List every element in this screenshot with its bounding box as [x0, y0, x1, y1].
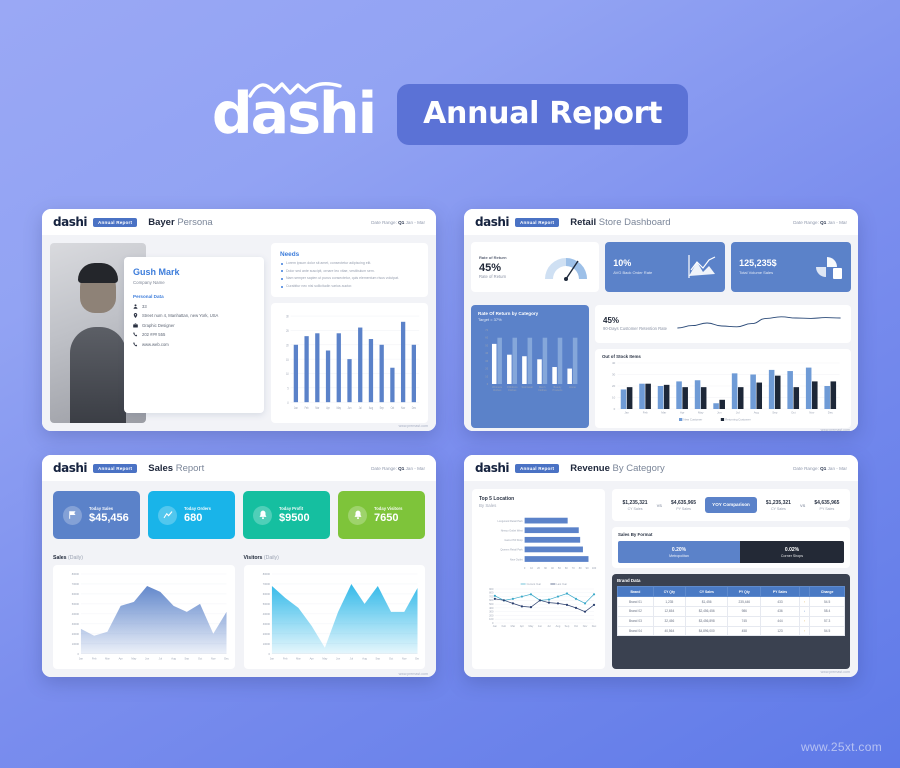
visitors-daily-caption: Visitors (Daily)	[244, 555, 426, 561]
persona-row-phone: 202 ### 555	[133, 332, 255, 337]
slide4-watermark: www.premast.com	[821, 670, 850, 674]
svg-text:30000: 30000	[72, 622, 80, 626]
needs-item: Lorem ipsum dolor sit amet, consectetur …	[280, 261, 419, 266]
svg-text:25: 25	[286, 328, 289, 333]
svg-text:Jun: Jun	[336, 657, 341, 661]
svg-text:100: 100	[592, 566, 597, 570]
cell-change: 57.3	[810, 616, 845, 626]
svg-text:Feb: Feb	[92, 657, 97, 661]
yoy-left-cy: $1,235,321CY Sales	[623, 500, 648, 511]
cell-cy-sales: $3,456,898	[685, 616, 728, 626]
th-cy-qty[interactable]: CY Qty	[653, 587, 685, 597]
svg-text:Dec: Dec	[224, 657, 228, 661]
kpi-today-visitors[interactable]: Today Visitors 7650	[338, 491, 425, 539]
svg-text:Apr: Apr	[119, 657, 123, 661]
cell-cy-qty: 12,654	[653, 606, 685, 616]
retention-value: 45%	[603, 316, 667, 325]
svg-text:20000: 20000	[72, 632, 80, 636]
slide2-logo: dashi	[475, 215, 509, 229]
cell-trend: ↑	[799, 597, 809, 607]
phone-icon	[133, 332, 138, 337]
cell-py-qty: 235,446	[728, 597, 761, 607]
svg-text:May: May	[322, 657, 328, 661]
svg-text:0: 0	[487, 382, 489, 386]
svg-text:0: 0	[268, 652, 270, 656]
slide2-watermark: www.premast.com	[821, 428, 850, 431]
persona-monthly-bar-chart[interactable]: 051015202530JanFebMarAprMayJunJulAugSepO…	[271, 303, 428, 423]
slide-bayer-persona[interactable]: dashi Annual Report Bayer Persona Date R…	[42, 209, 436, 431]
svg-text:400: 400	[489, 606, 494, 610]
slide-retail-store-dashboard[interactable]: dashi Annual Report Retail Store Dashboa…	[464, 209, 858, 431]
kpi-rate-label: Rate of Return	[479, 255, 541, 260]
needs-title: Needs	[280, 251, 419, 258]
svg-text:60: 60	[565, 566, 568, 570]
hero-header: dashi Annual Report	[0, 78, 900, 150]
svg-text:60000: 60000	[262, 592, 270, 596]
slide4-wrap: Top 5 Location By Sales Longwood Retail …	[472, 489, 850, 669]
svg-text:20000: 20000	[262, 632, 270, 636]
svg-text:Home: Home	[569, 385, 576, 389]
chart-icon	[158, 506, 177, 525]
visitors-daily-chart-wrap: Visitors (Daily) 01000020000300004000050…	[244, 555, 426, 669]
slide1-logo: dashi	[53, 215, 87, 229]
svg-text:Sep: Sep	[565, 624, 570, 628]
persona-right: Needs Lorem ipsum dolor sit amet, consec…	[271, 243, 428, 423]
yoy-vs-right: VS	[800, 503, 805, 508]
table-row[interactable]: Brand 0212,654$2,456,456986436↓58.4	[618, 606, 845, 616]
needs-item: Nam semper sapien ut purus consectetur, …	[280, 276, 419, 281]
svg-text:0: 0	[524, 566, 526, 570]
rate-of-return-by-category-panel[interactable]: Rate Of Return by Category Target = 37% …	[471, 305, 589, 428]
svg-text:50: 50	[485, 343, 488, 347]
slide4-right-col: $1,235,321CY Sales VS $4,635,965PY Sales…	[612, 489, 850, 669]
cell-py-qty: 986	[728, 606, 761, 616]
kpi-total-volume-sales[interactable]: 125,235$ Total Volume Sales	[731, 242, 851, 292]
svg-text:Sep: Sep	[380, 406, 384, 411]
svg-text:Oct: Oct	[198, 657, 202, 661]
kpi-backorder-sub: AVG Back Order Rate	[613, 270, 652, 275]
sales-by-format-title: Sales By Format	[618, 532, 844, 537]
svg-text:40: 40	[612, 361, 616, 365]
cell-trend: ↑	[799, 616, 809, 626]
svg-text:10000: 10000	[72, 642, 80, 646]
top5-location-panel[interactable]: Top 5 Location By Sales Longwood Retail …	[472, 489, 605, 669]
svg-text:60000: 60000	[72, 592, 80, 596]
slide3-kpi-row: Today Sales $45,456 Today Orders 680 Tod…	[53, 491, 425, 539]
svg-text:May: May	[337, 406, 342, 411]
person-icon	[133, 304, 138, 309]
svg-text:Nov: Nov	[401, 406, 405, 411]
kpi-today-profit[interactable]: Today Profit $9500	[243, 491, 330, 539]
svg-text:30000: 30000	[262, 622, 270, 626]
svg-text:100: 100	[489, 617, 494, 621]
slide-sales-report[interactable]: dashi Annual Report Sales Report Date Ra…	[42, 455, 436, 677]
slide3-watermark: www.premast.com	[399, 672, 428, 676]
svg-text:Mar: Mar	[105, 657, 110, 661]
brand-data-panel[interactable]: Brand Data Brand CY Qty CY Sales PY Qty …	[612, 574, 850, 669]
svg-text:Garret Hill Shop: Garret Hill Shop	[504, 538, 523, 542]
persona-row-age: 33	[133, 304, 255, 309]
cell-cy-qty: 40,564	[653, 626, 685, 636]
svg-text:0: 0	[287, 400, 289, 405]
cell-change: 58.4	[810, 606, 845, 616]
slide2-badge: Annual Report	[515, 218, 559, 227]
svg-text:Jul: Jul	[349, 657, 353, 661]
kpi-today-orders[interactable]: Today Orders 680	[148, 491, 235, 539]
svg-text:90: 90	[586, 566, 589, 570]
yoy-vs-left: VS	[657, 503, 662, 508]
cell-trend: ↑	[799, 626, 809, 636]
kpi-today-sales[interactable]: Today Sales $45,456	[53, 491, 140, 539]
logo-squiggle-icon	[248, 80, 344, 102]
category-panel-title: Rate Of Return by Category	[478, 311, 582, 316]
out-of-stock-panel[interactable]: Out of Stock Items 010203040JanFebMarApr…	[595, 349, 851, 428]
svg-text:Jun: Jun	[348, 406, 352, 411]
yoy-right-cy: $1,235,321CY Sales	[766, 500, 791, 511]
slide1-badge: Annual Report	[93, 218, 137, 227]
th-trend[interactable]	[799, 587, 809, 597]
dashi-logo: dashi	[212, 86, 375, 143]
persona-company: Company Name	[133, 280, 255, 285]
svg-text:Apr: Apr	[680, 411, 685, 415]
svg-text:New Outlet: New Outlet	[510, 557, 523, 561]
kpi-today-visitors-label: Today Visitors	[374, 506, 402, 511]
svg-text:Mar: Mar	[661, 411, 666, 415]
slide1-body: Gush Mark Company Name Personal Data 33 …	[42, 235, 436, 431]
svg-text:20: 20	[537, 566, 540, 570]
slide4-header: dashi Annual Report Revenue By Category …	[464, 455, 858, 481]
svg-text:70000: 70000	[262, 582, 270, 586]
svg-text:Jan: Jan	[624, 411, 629, 415]
retention-sub: 90-Days Customer Retention Rate	[603, 326, 667, 331]
svg-text:30: 30	[286, 314, 289, 319]
svg-text:Dec: Dec	[828, 411, 834, 415]
svg-text:60: 60	[485, 336, 488, 340]
cell-change: 54.5	[810, 597, 845, 607]
svg-text:20: 20	[286, 343, 289, 348]
slide2-kpi-row: Rate of Return 45% Rate of Return 10%	[471, 242, 851, 292]
svg-text:5: 5	[287, 386, 289, 391]
slide3-logo: dashi	[53, 461, 87, 475]
svg-text:Dec: Dec	[415, 657, 419, 661]
format-segment-corner-shops: 0.02% Corner Shops	[740, 541, 844, 563]
svg-text:600: 600	[489, 598, 494, 602]
svg-text:50000: 50000	[262, 602, 270, 606]
slides-grid: dashi Annual Report Bayer Persona Date R…	[42, 209, 858, 677]
slide3-charts: Sales (Daily) 01000020000300004000050000…	[53, 555, 425, 669]
slide-revenue-by-category[interactable]: dashi Annual Report Revenue By Category …	[464, 455, 858, 677]
cell-brand: Brand 03	[618, 616, 654, 626]
svg-text:Oct: Oct	[574, 624, 578, 628]
slide4-date-range[interactable]: Date Range: Q1 Jan - Mar	[793, 466, 847, 471]
persona-row-address: Street num 4, Manhattan, new York, USA	[133, 313, 255, 318]
cell-brand: Brand 02	[618, 606, 654, 616]
svg-text:Swimwear: Swimwear	[522, 385, 534, 389]
th-brand[interactable]: Brand	[618, 587, 654, 597]
th-py-sales[interactable]: PY Sales	[761, 587, 800, 597]
slide1-watermark: www.premast.com	[399, 424, 428, 428]
slide3-badge: Annual Report	[93, 464, 137, 473]
svg-text:0: 0	[78, 652, 80, 656]
kpi-avg-back-order[interactable]: 10% AVG Back Order Rate	[605, 242, 725, 292]
svg-text:Longwood Retail Park: Longwood Retail Park	[498, 519, 524, 523]
svg-text:Jan: Jan	[294, 406, 298, 411]
svg-text:Sep: Sep	[185, 657, 190, 661]
cell-cy-qty: 32,456	[653, 616, 685, 626]
kpi-today-sales-value: $45,456	[89, 512, 129, 524]
svg-text:Feb: Feb	[502, 624, 507, 628]
svg-text:May: May	[131, 657, 137, 661]
slide3-title: Sales Report	[148, 463, 204, 474]
svg-text:Jun: Jun	[717, 411, 722, 415]
svg-text:Aug: Aug	[556, 624, 561, 628]
needs-item: Curabitur nec nisi sollicitudin varius a…	[280, 284, 419, 289]
svg-text:Aug: Aug	[362, 657, 367, 661]
svg-text:Returning Customer: Returning Customer	[725, 418, 751, 422]
cell-py-sales: 436	[761, 606, 800, 616]
svg-text:Feb: Feb	[305, 406, 309, 411]
flag-icon	[63, 506, 82, 525]
svg-text:Newco Outlet West: Newco Outlet West	[501, 529, 523, 533]
svg-text:20: 20	[612, 384, 616, 388]
svg-text:30: 30	[485, 359, 488, 363]
svg-text:Oct: Oct	[391, 406, 395, 411]
kpi-today-profit-value: $9500	[279, 512, 310, 524]
svg-text:15: 15	[286, 357, 289, 362]
slide2-header: dashi Annual Report Retail Store Dashboa…	[464, 209, 858, 235]
kpi-today-orders-label: Today Orders	[184, 506, 211, 511]
visitors-daily-chart[interactable]: 0100002000030000400005000060000700008000…	[244, 565, 426, 669]
retention-panel[interactable]: 45% 90-Days Customer Retention Rate	[595, 305, 851, 343]
svg-text:Nov: Nov	[211, 657, 216, 661]
slide4-title: Revenue By Category	[570, 463, 665, 474]
kpi-backorder-value: 10%	[613, 258, 652, 268]
svg-text:700: 700	[489, 594, 494, 598]
svg-text:Apr: Apr	[309, 657, 313, 661]
th-py-qty[interactable]: PY Qty	[728, 587, 761, 597]
svg-text:Feb: Feb	[282, 657, 287, 661]
svg-text:Nov: Nov	[809, 411, 815, 415]
svg-text:Clothes: Clothes	[493, 388, 502, 392]
svg-text:Jul: Jul	[159, 657, 163, 661]
svg-text:40000: 40000	[262, 612, 270, 616]
needs-panel: Needs Lorem ipsum dolor sit amet, consec…	[271, 243, 428, 297]
svg-text:80000: 80000	[72, 572, 80, 576]
category-panel-subtitle: Target = 37%	[478, 317, 582, 322]
svg-text:May: May	[698, 411, 704, 415]
svg-text:May: May	[529, 624, 535, 628]
kpi-rate-value: 45%	[479, 262, 541, 274]
svg-text:80000: 80000	[262, 572, 270, 576]
svg-text:Nov: Nov	[401, 657, 406, 661]
slide2-date-range[interactable]: Date Range: Q1 Jan - Mar	[793, 220, 847, 225]
table-row[interactable]: Brand 0332,456$3,456,898745444↑57.3	[618, 616, 845, 626]
svg-text:50: 50	[558, 566, 561, 570]
persona-row-web[interactable]: www.web.com	[133, 342, 255, 347]
svg-text:10: 10	[286, 371, 289, 376]
yoy-left-py: $4,635,965PY Sales	[671, 500, 696, 511]
svg-text:Jan: Jan	[269, 657, 274, 661]
slide1-date-range[interactable]: Date Range: Q1 Jan - Mar	[371, 220, 425, 225]
annual-report-badge: Annual Report	[397, 84, 688, 145]
top5-location-subtitle: By Sales	[479, 503, 598, 508]
kpi-today-sales-label: Today Sales	[89, 506, 129, 511]
svg-text:Jul: Jul	[359, 406, 362, 411]
svg-text:Mar: Mar	[296, 657, 301, 661]
kpi-rate-sub: Rate of Return	[479, 274, 541, 279]
svg-text:Mar: Mar	[511, 624, 516, 628]
top5-location-title: Top 5 Location	[479, 496, 598, 502]
svg-text:Apr: Apr	[326, 406, 330, 411]
svg-text:Jun: Jun	[538, 624, 543, 628]
yoy-right-py: $4,635,965PY Sales	[814, 500, 839, 511]
kpi-volume-value: 125,235$	[739, 258, 777, 268]
gauge-icon	[541, 251, 591, 283]
svg-text:70: 70	[572, 566, 575, 570]
svg-text:10000: 10000	[262, 642, 270, 646]
svg-text:Aug: Aug	[754, 411, 760, 415]
svg-text:Mar: Mar	[315, 406, 319, 411]
sales-daily-chart-wrap: Sales (Daily) 01000020000300004000050000…	[53, 555, 235, 669]
slide2-body: Rate of Return 45% Rate of Return 10%	[464, 235, 858, 431]
svg-text:30: 30	[612, 373, 616, 377]
slide4-badge: Annual Report	[515, 464, 559, 473]
svg-text:Aug: Aug	[369, 406, 373, 411]
slide1-header: dashi Annual Report Bayer Persona Date R…	[42, 209, 436, 235]
sales-daily-caption: Sales (Daily)	[53, 555, 235, 561]
svg-text:Sep: Sep	[375, 657, 380, 661]
cell-cy-qty: 1,235	[653, 597, 685, 607]
persona-card: Gush Mark Company Name Personal Data 33 …	[124, 257, 264, 413]
cell-py-qty: 458	[728, 626, 761, 636]
slide4-body: Top 5 Location By Sales Longwood Retail …	[464, 481, 858, 677]
svg-text:10: 10	[485, 374, 488, 378]
page-watermark: www.25xt.com	[801, 740, 882, 754]
brand-data-table[interactable]: Brand CY Qty CY Sales PY Qty PY Sales Ch…	[617, 586, 845, 636]
bell-icon	[253, 506, 272, 525]
svg-text:800: 800	[489, 591, 494, 595]
svg-text:70000: 70000	[72, 582, 80, 586]
yoy-comparison-button[interactable]: YOY Comparison	[705, 497, 757, 513]
svg-text:10: 10	[612, 396, 616, 400]
kpi-today-orders-value: 680	[184, 512, 211, 524]
svg-text:40000: 40000	[72, 612, 80, 616]
cell-change: 54.5	[810, 626, 845, 636]
svg-text:Aug: Aug	[171, 657, 176, 661]
svg-text:Feb: Feb	[643, 411, 648, 415]
svg-text:80: 80	[579, 566, 582, 570]
svg-text:Queens Retail Park: Queens Retail Park	[500, 548, 523, 552]
svg-text:Jan: Jan	[79, 657, 84, 661]
svg-text:Jul: Jul	[736, 411, 740, 415]
svg-text:70: 70	[485, 328, 488, 332]
kpi-today-profit-label: Today Profit	[279, 506, 310, 511]
sales-daily-chart[interactable]: 0100002000030000400005000060000700008000…	[53, 565, 235, 669]
svg-text:Oct: Oct	[791, 411, 796, 415]
svg-text:300: 300	[489, 610, 494, 614]
svg-text:Jun: Jun	[145, 657, 150, 661]
needs-item: Dolor sed ante suscipit, ornare leo vita…	[280, 269, 419, 274]
svg-text:Jul: Jul	[547, 624, 551, 628]
th-change[interactable]: Change	[810, 587, 845, 597]
slide3-date-range[interactable]: Date Range: Q1 Jan - Mar	[371, 466, 425, 471]
svg-text:Apr: Apr	[520, 624, 524, 628]
svg-text:Last Year: Last Year	[556, 582, 567, 586]
kpi-rate-of-return[interactable]: Rate of Return 45% Rate of Return	[471, 242, 599, 292]
svg-text:0: 0	[614, 407, 616, 411]
svg-text:Clothes: Clothes	[538, 388, 547, 392]
slide3-body: Today Sales $45,456 Today Orders 680 Tod…	[42, 481, 436, 677]
location-icon	[133, 313, 138, 318]
svg-text:Oct: Oct	[389, 657, 393, 661]
svg-text:Jan: Jan	[493, 624, 498, 628]
th-cy-sales[interactable]: CY Sales	[685, 587, 728, 597]
svg-text:200: 200	[489, 613, 494, 617]
svg-text:500: 500	[489, 602, 494, 606]
svg-text:Nov: Nov	[583, 624, 588, 628]
cell-py-sales: 123	[761, 626, 800, 636]
cell-brand: Brand 01	[618, 597, 654, 607]
format-segment-metropolitan: 0.20% Metropolitan	[618, 541, 740, 563]
persona-row-job: Graphic Designer	[133, 323, 255, 328]
cell-brand: Brand 04	[618, 626, 654, 636]
svg-text:Current Year: Current Year	[527, 582, 542, 586]
svg-text:Clothes: Clothes	[508, 388, 517, 392]
yoy-comparison-panel: $1,235,321CY Sales VS $4,635,965PY Sales…	[612, 489, 850, 521]
slide2-title: Retail Store Dashboard	[570, 217, 670, 228]
table-row[interactable]: Brand 0440,564$4,896,000458123↑54.5	[618, 626, 845, 636]
cell-trend: ↓	[799, 606, 809, 616]
link-icon	[133, 342, 138, 347]
svg-text:20: 20	[485, 367, 488, 371]
svg-text:30: 30	[544, 566, 547, 570]
slide1-title: Bayer Persona	[148, 217, 212, 228]
cell-py-sales: 433	[761, 597, 800, 607]
svg-text:Sep: Sep	[772, 411, 778, 415]
svg-text:Dec: Dec	[412, 406, 416, 411]
svg-text:Dec: Dec	[592, 624, 597, 628]
kpi-today-visitors-value: 7650	[374, 512, 402, 524]
sales-by-format-bar: 0.20% Metropolitan 0.02% Corner Shops	[618, 541, 844, 563]
table-row[interactable]: Brand 011,235$1,456235,446433↑54.5	[618, 597, 845, 607]
persona-left: Gush Mark Company Name Personal Data 33 …	[50, 243, 264, 423]
briefcase-icon	[133, 323, 138, 328]
svg-text:Products: Products	[553, 388, 564, 392]
slide2-chart-row: Rate Of Return by Category Target = 37% …	[471, 305, 851, 428]
svg-text:50000: 50000	[72, 602, 80, 606]
bell-icon	[348, 506, 367, 525]
cell-py-qty: 745	[728, 616, 761, 626]
kpi-volume-sub: Total Volume Sales	[739, 270, 777, 275]
svg-text:10: 10	[530, 566, 533, 570]
cell-cy-sales: $2,456,456	[685, 606, 728, 616]
brand-data-title: Brand Data	[617, 578, 845, 583]
persona-name: Gush Mark	[133, 267, 255, 277]
sales-by-format-panel[interactable]: Sales By Format 0.20% Metropolitan 0.02%…	[612, 527, 850, 568]
cell-cy-sales: $1,456	[685, 597, 728, 607]
table-header-row: Brand CY Qty CY Sales PY Qty PY Sales Ch…	[618, 587, 845, 597]
svg-text:40: 40	[551, 566, 554, 570]
cell-py-sales: 444	[761, 616, 800, 626]
svg-text:New Customer: New Customer	[683, 418, 702, 422]
persona-section-title: Personal Data	[133, 294, 255, 299]
svg-text:40: 40	[485, 351, 488, 355]
svg-text:900: 900	[489, 587, 494, 591]
cell-cy-sales: $4,896,000	[685, 626, 728, 636]
pie-chart-icon	[813, 254, 843, 280]
slide3-header: dashi Annual Report Sales Report Date Ra…	[42, 455, 436, 481]
area-chart-icon	[687, 254, 717, 280]
